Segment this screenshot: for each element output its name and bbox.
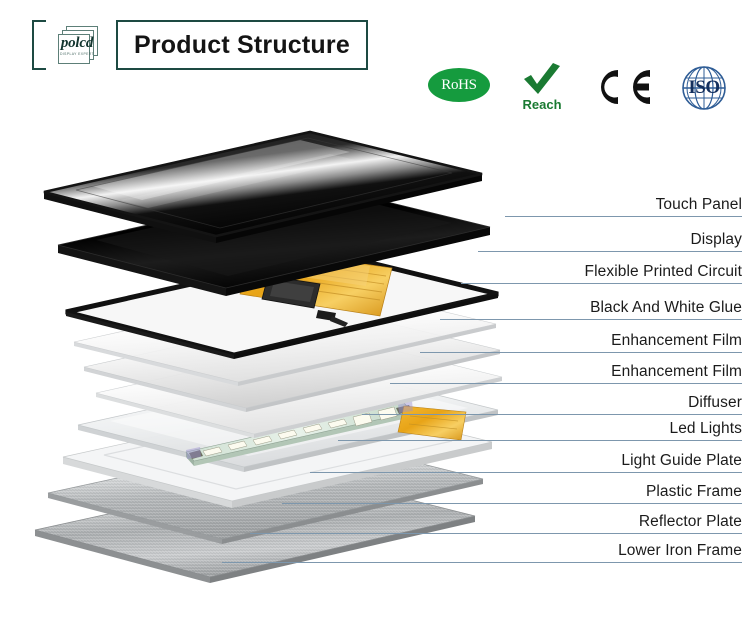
label-touch-panel: Touch Panel xyxy=(656,196,742,214)
iso-label: ISO xyxy=(680,77,728,99)
page-title-frame: Product Structure xyxy=(116,20,368,70)
label-display: Display xyxy=(690,231,742,249)
ce-mark-icon xyxy=(594,66,654,108)
exploded-stack-illustration xyxy=(0,80,520,610)
ce-badge xyxy=(594,62,654,113)
label-diffuser: Diffuser xyxy=(688,394,742,412)
title-block: polcd DISPLAY EXPERT Product Structure xyxy=(32,20,368,70)
reach-badge: Reach xyxy=(516,62,568,112)
logo-text: polcd DISPLAY EXPERT xyxy=(60,36,94,56)
reach-label: Reach xyxy=(516,97,568,112)
leader-line-touch-panel xyxy=(505,216,742,217)
label-plastic-frame: Plastic Frame xyxy=(646,483,742,501)
label-light-guide-plate: Light Guide Plate xyxy=(621,452,742,470)
page-title: Product Structure xyxy=(134,31,350,60)
product-structure-diagram: polcd DISPLAY EXPERT Product Structure R… xyxy=(0,0,750,622)
label-flexible-printed-circuit: Flexible Printed Circuit xyxy=(585,263,742,281)
label-reflector-plate: Reflector Plate xyxy=(639,513,742,531)
label-lower-iron-frame: Lower Iron Frame xyxy=(618,542,742,560)
logo-wordmark: polcd xyxy=(60,36,94,51)
label-enhancement-film-upper: Enhancement Film xyxy=(611,332,742,350)
label-black-and-white-glue: Black And White Glue xyxy=(590,299,742,317)
label-led-lights: Led Lights xyxy=(669,420,742,438)
bracket-decoration xyxy=(32,20,46,70)
brand-logo: polcd DISPLAY EXPERT xyxy=(46,20,108,70)
logo-tagline: DISPLAY EXPERT xyxy=(60,53,94,57)
check-mark-icon xyxy=(520,62,564,96)
iso-badge: ISO xyxy=(680,62,728,112)
label-enhancement-film-lower: Enhancement Film xyxy=(611,363,742,381)
